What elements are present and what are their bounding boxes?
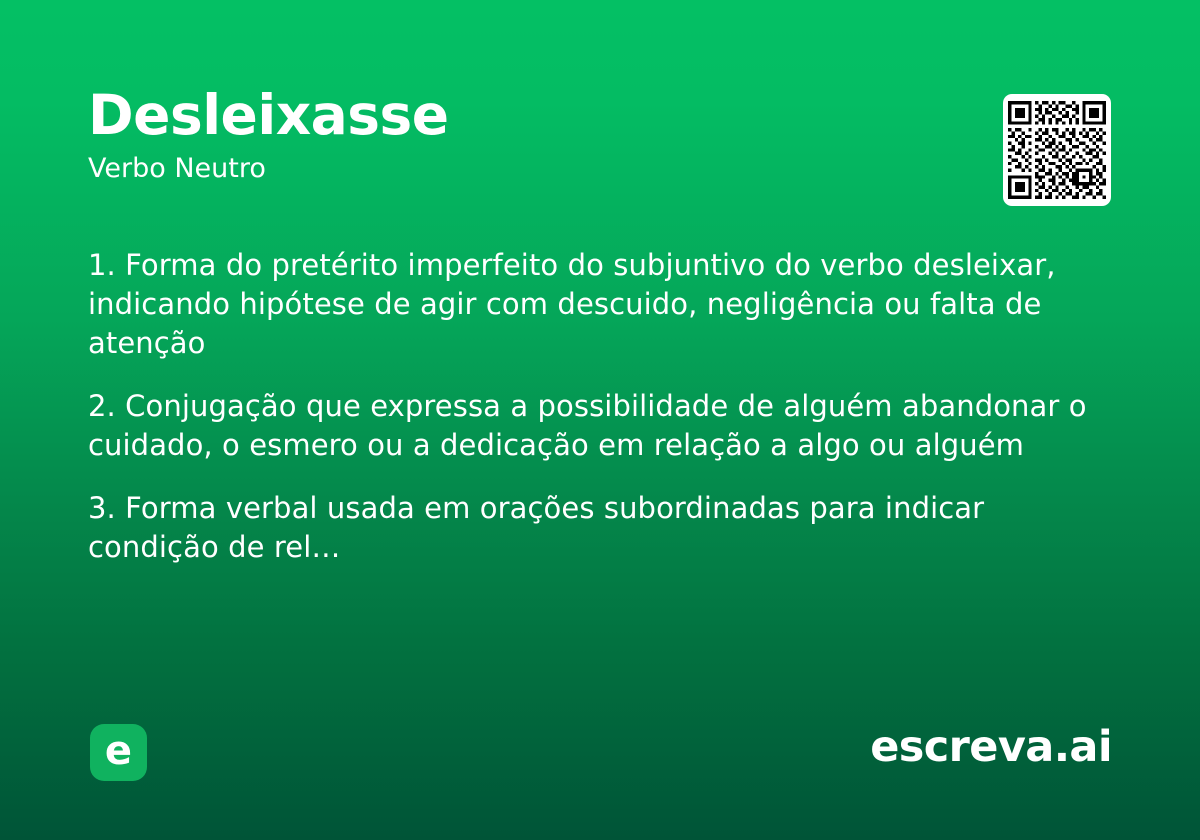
- escreva-logo-badge[interactable]: e: [90, 724, 147, 781]
- logo-letter: e: [105, 731, 132, 771]
- word-class-label: Verbo Neutro: [88, 154, 1112, 184]
- definition-list: 1. Forma do pretérito imperfeito do subj…: [88, 246, 1088, 567]
- definition-item: 3. Forma verbal usada em orações subordi…: [88, 489, 1088, 567]
- card-header: Desleixasse Verbo Neutro: [88, 86, 1112, 184]
- qr-code-icon: [1008, 100, 1106, 200]
- definition-item: 2. Conjugação que expressa a possibilida…: [88, 387, 1088, 465]
- definition-item: 1. Forma do pretérito imperfeito do subj…: [88, 246, 1088, 363]
- brand-wordmark: escreva.ai: [870, 726, 1112, 769]
- word-definition-card: Desleixasse Verbo Neutro: [0, 0, 1200, 840]
- qr-code[interactable]: [1003, 94, 1111, 206]
- page-title: Desleixasse: [88, 86, 1112, 144]
